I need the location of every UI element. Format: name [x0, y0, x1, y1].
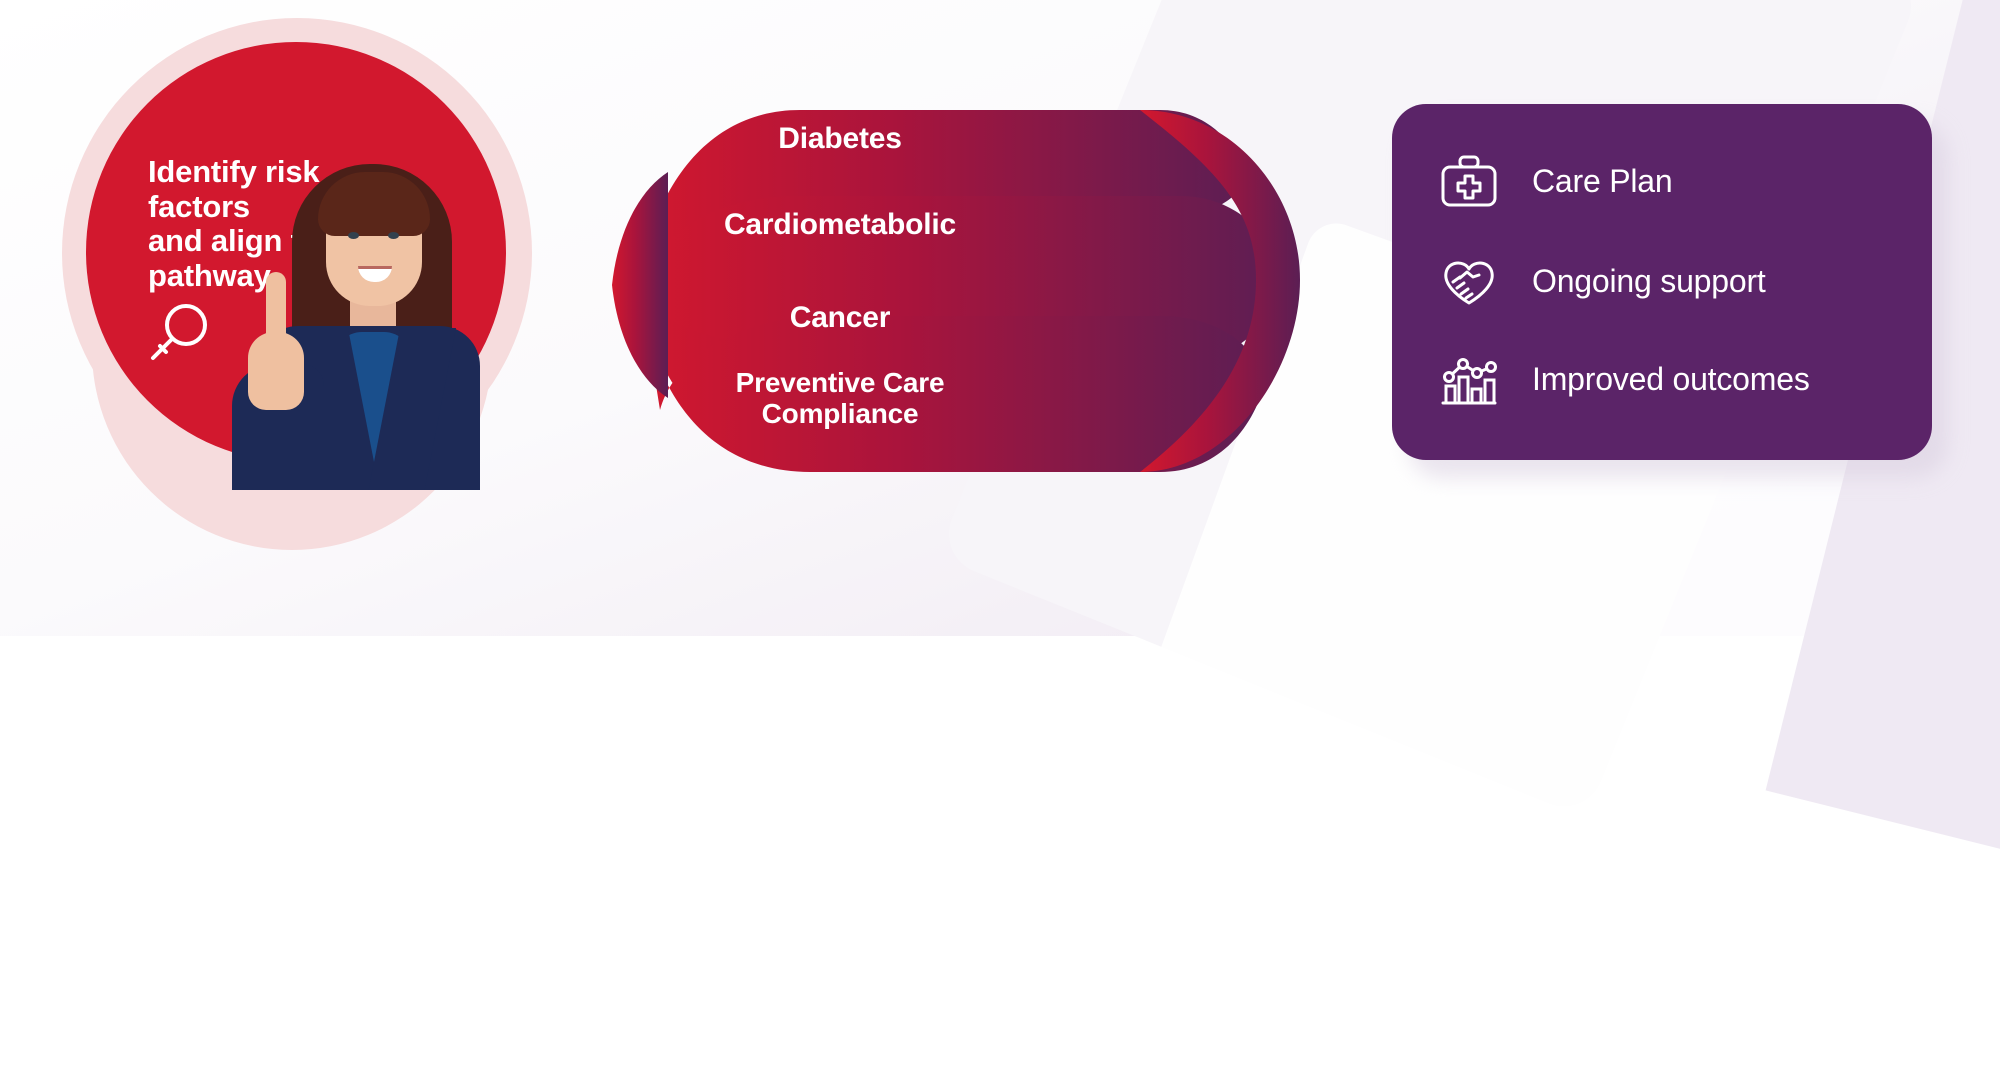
outcomes-card: Care Plan Ongoing support Improved outco… — [1392, 104, 1932, 460]
presenter-eye-right — [388, 232, 399, 239]
band-label-diabetes: Diabetes — [700, 122, 980, 155]
presenter-eye-left — [348, 232, 359, 239]
band-label-cardiometabolic: Cardiometabolic — [640, 208, 1040, 241]
presenter-hand — [248, 332, 304, 410]
outcome-label-care-plan: Care Plan — [1532, 163, 1673, 200]
entry-stage: Identify risk factors and align to pathw… — [0, 0, 560, 636]
bar-chart-trend-icon — [1436, 346, 1502, 412]
outcome-item-ongoing-support[interactable]: Ongoing support — [1436, 248, 1766, 314]
outcome-label-ongoing-support: Ongoing support — [1532, 263, 1766, 300]
medical-bag-icon — [1436, 148, 1502, 214]
handshake-heart-icon — [1436, 248, 1502, 314]
ribbon-source-wedge — [612, 172, 668, 398]
band-label-preventive-care: Preventive Care Compliance — [650, 368, 1030, 430]
presenter-photo — [222, 150, 482, 490]
outcome-item-improved-outcomes[interactable]: Improved outcomes — [1436, 346, 1810, 412]
outcome-item-care-plan[interactable]: Care Plan — [1436, 148, 1673, 214]
outcome-label-improved-outcomes: Improved outcomes — [1532, 361, 1810, 398]
magnifier-icon — [142, 300, 216, 374]
band-label-cancer: Cancer — [700, 301, 980, 334]
